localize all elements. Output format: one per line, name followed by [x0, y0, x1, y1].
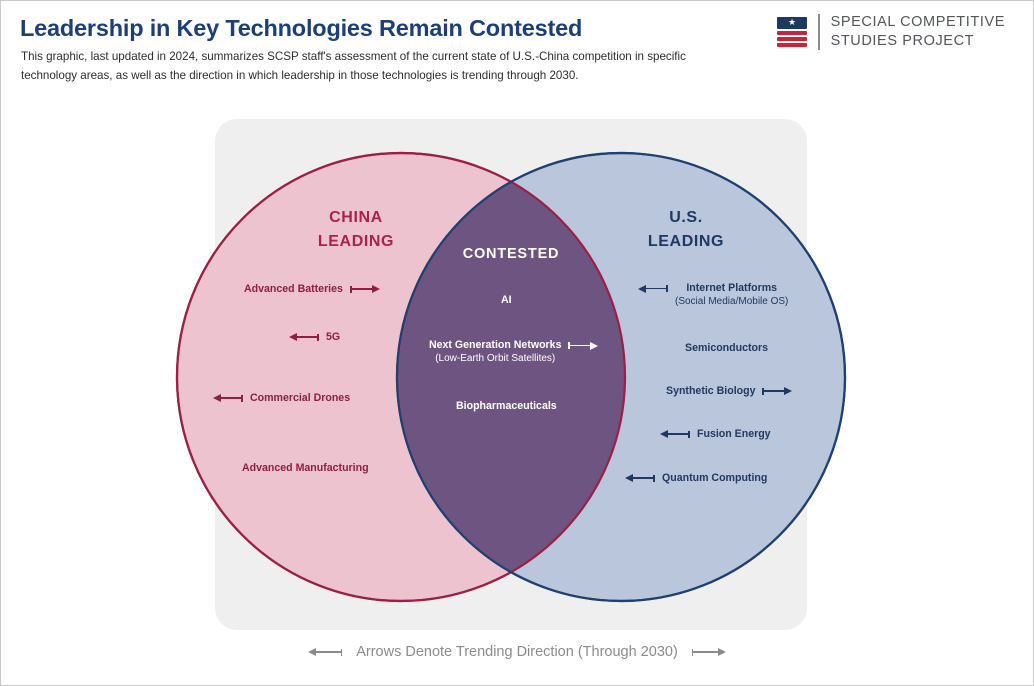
logo-wordmark: SPECIAL COMPETITIVE STUDIES PROJECT	[831, 13, 1005, 51]
china-title-line1: CHINA	[281, 206, 431, 230]
left-arrow-icon	[289, 332, 319, 342]
right-arrow-icon	[350, 284, 380, 294]
china-item-commercial-drones: Commercial Drones	[213, 392, 350, 404]
contested-item-label: Next Generation Networks	[429, 339, 561, 351]
left-arrow-icon	[638, 284, 668, 294]
left-arrow-icon	[308, 647, 342, 657]
contested-item-ai: AI	[501, 294, 512, 306]
contested-item-biopharmaceuticals: Biopharmaceuticals	[456, 400, 557, 412]
china-title-line2: LEADING	[281, 230, 431, 254]
us-item-label: Fusion Energy	[697, 428, 771, 440]
us-item-synthetic-biology: Synthetic Biology	[666, 385, 792, 397]
us-leading-title: U.S. LEADING	[611, 206, 761, 254]
left-arrow-icon	[660, 429, 690, 439]
logo-wordmark-line1: SPECIAL COMPETITIVE	[831, 13, 1005, 32]
contested-item-label: AI	[501, 294, 512, 306]
logo-divider	[818, 14, 820, 50]
right-arrow-icon	[568, 341, 598, 351]
flag-stripe	[777, 37, 807, 41]
legend: Arrows Denote Trending Direction (Throug…	[1, 644, 1033, 660]
infographic-page: Leadership in Key Technologies Remain Co…	[0, 0, 1034, 686]
contested-item-label: Biopharmaceuticals	[456, 400, 557, 412]
china-item-5g: 5G	[289, 331, 340, 343]
us-item-fusion-energy: Fusion Energy	[660, 428, 771, 440]
logo-wordmark-line2: STUDIES PROJECT	[831, 32, 1005, 51]
header: Leadership in Key Technologies Remain Co…	[1, 1, 1033, 97]
page-subtitle: This graphic, last updated in 2024, summ…	[21, 47, 721, 85]
china-item-label: Commercial Drones	[250, 392, 350, 404]
scsp-logo: ★ SPECIAL COMPETITIVE STUDIES PROJECT	[777, 13, 1005, 51]
us-title-line1: U.S.	[611, 206, 761, 230]
china-item-label: 5G	[326, 331, 340, 343]
us-item-internet-platforms: Internet Platforms (Social Media/Mobile …	[638, 282, 788, 307]
us-item-label: Internet Platforms	[686, 282, 777, 294]
us-item-label: Semiconductors	[685, 342, 768, 354]
us-item-semiconductors: Semiconductors	[685, 342, 768, 354]
left-arrow-icon	[625, 473, 655, 483]
us-item-sublabel: (Social Media/Mobile OS)	[675, 296, 788, 307]
contested-title: CONTESTED	[436, 246, 586, 262]
us-item-text: Internet Platforms (Social Media/Mobile …	[675, 282, 788, 307]
legend-label: Arrows Denote Trending Direction (Throug…	[356, 644, 678, 660]
flag-canton: ★	[777, 17, 807, 30]
flag-stripe	[777, 43, 807, 47]
us-item-quantum-computing: Quantum Computing	[625, 472, 767, 484]
us-title-line2: LEADING	[611, 230, 761, 254]
china-item-label: Advanced Batteries	[244, 283, 343, 295]
right-arrow-icon	[762, 386, 792, 396]
contested-item-sublabel: (Low-Earth Orbit Satellites)	[435, 353, 555, 364]
china-item-advanced-batteries: Advanced Batteries	[244, 283, 380, 295]
contested-item-text: Next Generation Networks (Low-Earth Orbi…	[429, 339, 561, 364]
star-icon: ★	[788, 18, 796, 27]
us-item-label: Quantum Computing	[662, 472, 767, 484]
china-item-advanced-manufacturing: Advanced Manufacturing	[242, 462, 369, 474]
flag-stripe	[777, 31, 807, 35]
page-title: Leadership in Key Technologies Remain Co…	[20, 15, 582, 42]
china-leading-title: CHINA LEADING	[281, 206, 431, 254]
right-arrow-icon	[692, 647, 726, 657]
left-arrow-icon	[213, 393, 243, 403]
us-item-label: Synthetic Biology	[666, 385, 755, 397]
scsp-flag-logo-icon: ★	[777, 17, 807, 48]
china-item-label: Advanced Manufacturing	[242, 462, 369, 474]
contested-item-next-generation-networks: Next Generation Networks (Low-Earth Orbi…	[429, 339, 598, 364]
